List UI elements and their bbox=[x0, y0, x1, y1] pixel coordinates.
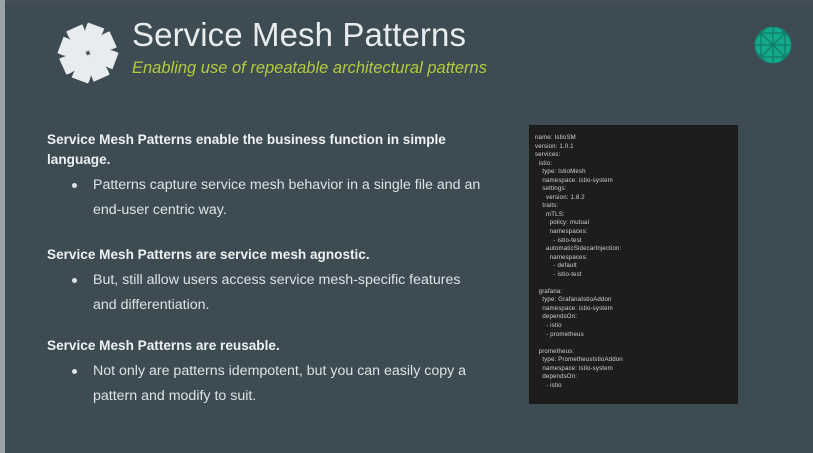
bullet-list: Not only are patterns idempotent, but yo… bbox=[47, 359, 487, 409]
bullet-dot-icon bbox=[72, 183, 77, 188]
code-line: - istio-test bbox=[535, 237, 737, 246]
code-line: automaticSidecarInjection: bbox=[535, 245, 737, 254]
list-item-text: But, still allow users access service me… bbox=[93, 272, 460, 313]
top-edge-strip bbox=[0, 0, 813, 3]
code-line: - istio bbox=[535, 382, 737, 391]
code-line: type: GrafanaIstioAddon bbox=[535, 296, 737, 305]
content-section: Service Mesh Patterns are reusable. Not … bbox=[47, 336, 487, 409]
list-item: Patterns capture service mesh behavior i… bbox=[47, 173, 487, 223]
section-heading: Service Mesh Patterns enable the busines… bbox=[47, 130, 447, 170]
title-block: Service Mesh Patterns Enabling use of re… bbox=[132, 13, 487, 79]
code-line: namespace: istio-system bbox=[535, 365, 737, 374]
code-line: - istio bbox=[535, 322, 737, 331]
list-item: Not only are patterns idempotent, but yo… bbox=[47, 359, 487, 409]
code-line: istio: bbox=[535, 160, 737, 169]
code-line: version: 1.0.1 bbox=[535, 143, 737, 152]
code-line: namespaces: bbox=[535, 228, 737, 237]
content-section: Service Mesh Patterns are service mesh a… bbox=[47, 245, 487, 318]
layer5-geodesic-icon bbox=[748, 20, 798, 70]
code-line: - prometheus bbox=[535, 331, 737, 340]
code-line: name: IstioSM bbox=[535, 134, 737, 143]
code-line: namespace: istio-system bbox=[535, 305, 737, 314]
slide-canvas: Service Mesh Patterns Enabling use of re… bbox=[0, 0, 813, 453]
code-line: grafana: bbox=[535, 288, 737, 297]
bullet-dot-icon bbox=[72, 278, 77, 283]
code-line: settings: bbox=[535, 185, 737, 194]
section-spacer bbox=[47, 318, 487, 336]
code-line: namespaces: bbox=[535, 254, 737, 263]
list-item-text: Not only are patterns idempotent, but yo… bbox=[93, 363, 466, 404]
bullet-list: But, still allow users access service me… bbox=[47, 268, 487, 318]
code-line: services: bbox=[535, 151, 737, 160]
section-spacer bbox=[47, 223, 487, 245]
bullet-dot-icon bbox=[72, 369, 77, 374]
page-title: Service Mesh Patterns bbox=[132, 13, 487, 57]
section-heading: Service Mesh Patterns are reusable. bbox=[47, 336, 447, 356]
code-line: dependsOn: bbox=[535, 373, 737, 382]
yaml-code-panel: name: IstioSMversion: 1.0.1services: ist… bbox=[530, 126, 737, 403]
yaml-code-lines: name: IstioSMversion: 1.0.1services: ist… bbox=[530, 126, 737, 390]
list-item-text: Patterns capture service mesh behavior i… bbox=[93, 177, 480, 218]
code-line: policy: mutual bbox=[535, 219, 737, 228]
code-line: - istio-test bbox=[535, 271, 737, 280]
code-line: type: IstioMesh bbox=[535, 168, 737, 177]
slide-header: Service Mesh Patterns Enabling use of re… bbox=[48, 13, 778, 91]
code-line: - default bbox=[535, 262, 737, 271]
content-body: Service Mesh Patterns enable the busines… bbox=[47, 130, 487, 409]
code-line bbox=[535, 279, 737, 288]
meshery-pinwheel-logo bbox=[52, 17, 124, 89]
code-line bbox=[535, 339, 737, 348]
list-item: But, still allow users access service me… bbox=[47, 268, 487, 318]
code-line: mTLS: bbox=[535, 211, 737, 220]
code-line: version: 1.8.2 bbox=[535, 194, 737, 203]
bullet-list: Patterns capture service mesh behavior i… bbox=[47, 173, 487, 223]
section-heading: Service Mesh Patterns are service mesh a… bbox=[47, 245, 447, 265]
left-edge-strip bbox=[0, 0, 5, 453]
code-line: dependsOn: bbox=[535, 313, 737, 322]
content-section: Service Mesh Patterns enable the busines… bbox=[47, 130, 487, 223]
page-subtitle: Enabling use of repeatable architectural… bbox=[132, 57, 487, 79]
code-line: traits: bbox=[535, 202, 737, 211]
code-line: type: PrometheusIstioAddon bbox=[535, 356, 737, 365]
code-line: namespace: istio-system bbox=[535, 177, 737, 186]
code-line: prometheus: bbox=[535, 348, 737, 357]
